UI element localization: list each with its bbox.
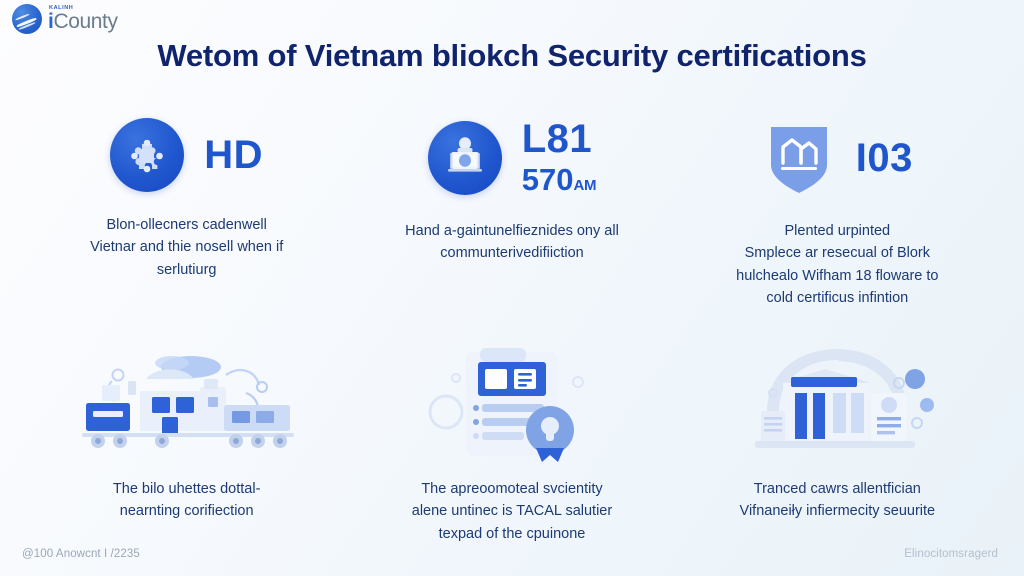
illustration-card-2[interactable]: The apreoomoteal svcientity alene untine… bbox=[349, 348, 674, 545]
caption-line: Tranced cawrs allentfician bbox=[740, 478, 936, 500]
stat-main-value-1: HD bbox=[204, 134, 263, 176]
bank-building-illustration-icon bbox=[721, 348, 953, 466]
stat-main-value-3: I03 bbox=[856, 137, 913, 179]
caption-line: Vifnaneiły infiermecity seuurite bbox=[740, 500, 936, 522]
stat-desc-line: serlutiurg bbox=[90, 259, 283, 281]
stat-head-2: L81 570AM bbox=[349, 118, 674, 198]
stat-card-2[interactable]: L81 570AM Hand a-gaintunelfieznides ony … bbox=[349, 118, 674, 310]
illustration-card-1[interactable]: The bilo uhettes dottal- nearnting corif… bbox=[24, 348, 349, 545]
stat-sub-value-2: 570AM bbox=[522, 162, 596, 198]
stat-desc-line: Plented urpinted bbox=[736, 220, 938, 242]
stat-head-3: I03 bbox=[675, 118, 1000, 198]
caption-line: The apreoomoteal svcientity bbox=[412, 478, 612, 500]
stat-sub-number: 570 bbox=[522, 162, 574, 197]
stat-card-1[interactable]: HD Blon-ollecners cadenwell Vietnar and … bbox=[24, 118, 349, 310]
factory-train-illustration-icon bbox=[71, 348, 303, 466]
illustration-caption-1: The bilo uhettes dottal- nearnting corif… bbox=[113, 478, 261, 523]
stat-desc-line: Hand a-gaintunelfieznides ony all bbox=[405, 220, 619, 242]
stat-head-1: HD bbox=[24, 118, 349, 192]
stat-card-3[interactable]: I03 Plented urpinted Smplece ar resecual… bbox=[675, 118, 1000, 310]
laptop-user-icon bbox=[428, 121, 502, 195]
puzzle-piece-icon bbox=[110, 118, 184, 192]
illustrations-row: The bilo uhettes dottal- nearnting corif… bbox=[24, 348, 1000, 545]
swoosh-circle-logo-icon bbox=[12, 4, 42, 34]
stat-values-1: HD bbox=[204, 134, 263, 176]
brand-name-text: County bbox=[53, 10, 117, 33]
shield-building-icon bbox=[762, 118, 836, 198]
stat-description-2: Hand a-gaintunelfieznides ony all commun… bbox=[405, 220, 619, 265]
footer-right-text: Elinocitomsragerd bbox=[904, 548, 998, 560]
stat-desc-line: cold certificus infintion bbox=[736, 287, 938, 309]
brand-logo[interactable]: KALINH iCounty bbox=[12, 4, 118, 34]
brand-text: KALINH iCounty bbox=[48, 6, 118, 32]
stat-description-1: Blon-ollecners cadenwell Vietnar and thi… bbox=[90, 214, 283, 281]
page-title: Wetom of Vietnam bliokch Security certif… bbox=[0, 38, 1024, 74]
stat-desc-line: communterivedifiiction bbox=[405, 242, 619, 264]
stat-description-3: Plented urpinted Smplece ar resecual of … bbox=[736, 220, 938, 310]
stat-values-2: L81 570AM bbox=[522, 118, 596, 198]
caption-line: texpad of the cpuinone bbox=[412, 523, 612, 545]
footer-left-text: @100 Anowcnt I /2235 bbox=[22, 548, 140, 560]
brand-name: iCounty bbox=[48, 11, 118, 32]
stat-desc-line: hulchealo Wifham 18 floware to bbox=[736, 265, 938, 287]
stat-main-value-2: L81 bbox=[522, 118, 592, 160]
stat-desc-line: Blon-ollecners cadenwell bbox=[90, 214, 283, 236]
stat-values-3: I03 bbox=[856, 137, 913, 179]
stat-sub-unit: AM bbox=[573, 177, 596, 194]
caption-line: The bilo uhettes dottal- bbox=[113, 478, 261, 500]
certificate-document-badge-illustration-icon bbox=[396, 348, 628, 466]
illustration-caption-3: Tranced cawrs allentfician Vifnaneiły in… bbox=[740, 478, 936, 523]
caption-line: nearnting corifiection bbox=[113, 500, 261, 522]
stat-desc-line: Smplece ar resecual of Blork bbox=[736, 242, 938, 264]
stats-row: HD Blon-ollecners cadenwell Vietnar and … bbox=[24, 118, 1000, 310]
illustration-card-3[interactable]: Tranced cawrs allentfician Vifnaneiły in… bbox=[675, 348, 1000, 545]
caption-line: alene untinec is TACAL salutier bbox=[412, 500, 612, 522]
illustration-caption-2: The apreoomoteal svcientity alene untine… bbox=[412, 478, 612, 545]
stat-desc-line: Vietnar and thie nosell when if bbox=[90, 236, 283, 258]
